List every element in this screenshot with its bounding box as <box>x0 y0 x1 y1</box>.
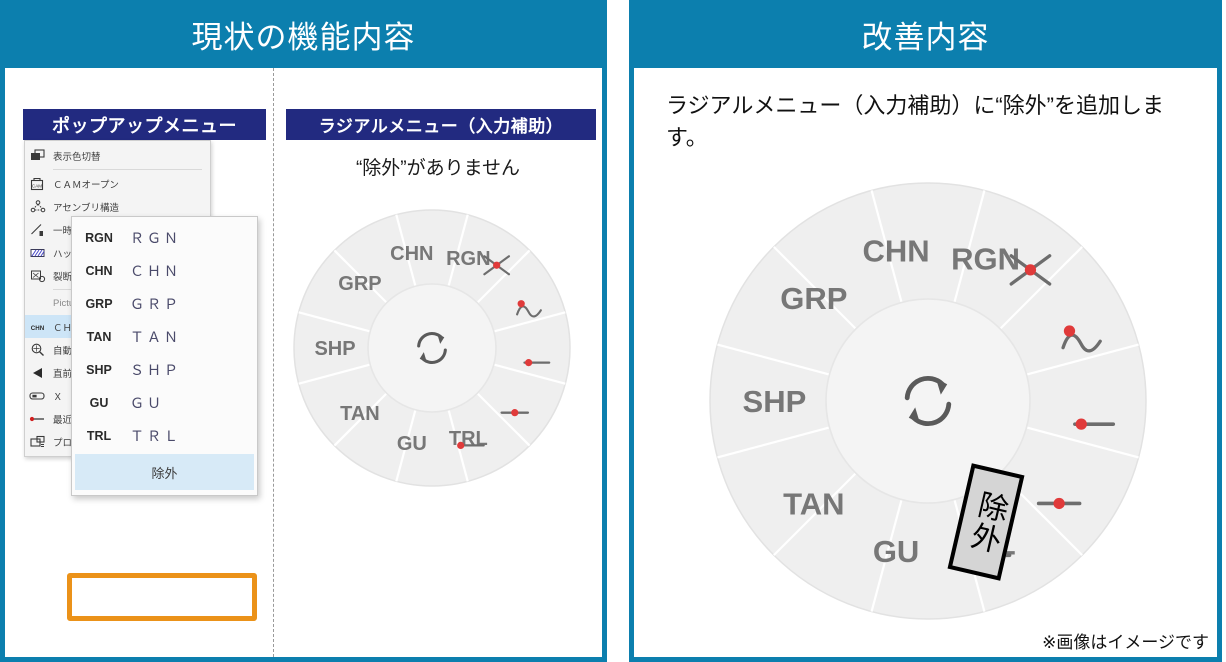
submenu-item-label: ＴＲＬ <box>130 426 181 446</box>
nearest-point-icon <box>29 411 46 426</box>
hatch-icon <box>29 245 46 260</box>
auto-zoom-icon <box>29 342 46 357</box>
wheel-label: RGN <box>446 248 490 270</box>
menu-item-display-color-switch[interactable]: 表示色切替 <box>25 144 210 167</box>
submenu-item-tan[interactable]: TAN ＴＡＮ <box>72 320 257 353</box>
popup-menu-subheader-label: ポップアップメニュー <box>52 112 237 138</box>
submenu-item-code: TAN <box>82 330 116 344</box>
properties-icon <box>29 434 46 449</box>
submenu-item-gu[interactable]: GU ＧＵ <box>72 386 257 419</box>
wheel-label: CHN <box>862 234 929 269</box>
menu-item-assembly-structure[interactable]: アセンブリ構造 <box>25 195 210 218</box>
submenu-item-rgn[interactable]: RGN ＲＧＮ <box>72 221 257 254</box>
svg-text:CAM: CAM <box>32 183 42 188</box>
submenu-item-label: ＳＨＰ <box>130 360 181 380</box>
menu-item-cam-open[interactable]: CAM ＣＡＭオープン <box>25 172 210 195</box>
menu-item-label: 自動 <box>53 343 72 357</box>
submenu-item-code: GRP <box>82 297 116 311</box>
right-panel-title: 改善内容 <box>862 12 990 57</box>
wheel-label: GU <box>397 433 427 455</box>
menu-item-label: 裂断 <box>53 269 72 283</box>
radial-wheel-svg-improved: RGNCHNGRPSHPTANGUTRL <box>698 173 1178 643</box>
popup-submenu[interactable]: RGN ＲＧＮ CHN ＣＨＮ GRP ＧＲＰ TAN <box>71 216 258 496</box>
submenu-item-shp[interactable]: SHP ＳＨＰ <box>72 353 257 386</box>
exclude-highlight-box <box>67 573 257 621</box>
submenu-item-label: ＣＨＮ <box>130 261 181 281</box>
menu-item-label: 最近 <box>53 412 72 426</box>
menu-separator <box>53 169 202 170</box>
radial-menu-subheader: ラジアルメニュー（入力補助） <box>286 109 596 140</box>
radial-wheel-svg-current: RGNCHNGRPSHPTANGUTRL <box>280 198 590 508</box>
chn-icon: CHN <box>29 319 46 334</box>
submenu-item-label: ＧＲＰ <box>130 294 181 314</box>
submenu-item-trl[interactable]: TRL ＴＲＬ <box>72 419 257 452</box>
submenu-item-code: TRL <box>82 429 116 443</box>
wheel-label: CHN <box>390 243 433 265</box>
xview-icon <box>29 388 46 403</box>
submenu-item-exclude-label: 除外 <box>151 463 177 482</box>
wheel-label: TRL <box>449 428 488 450</box>
picture-icon <box>29 296 46 311</box>
svg-text:CHN: CHN <box>31 325 45 332</box>
slide-root: 現状の機能内容 ポップアップメニュー 表示色切替 <box>0 0 1226 662</box>
submenu-item-label: ＲＧＮ <box>130 228 181 248</box>
assembly-structure-icon <box>29 199 46 214</box>
right-panel-body: ラジアルメニュー（入力補助）に“除外”を追加します。 RGNCHNGRPSHPT… <box>629 68 1222 662</box>
popup-menu-subheader: ポップアップメニュー <box>23 109 266 140</box>
wheel-label: GRP <box>780 281 847 316</box>
submenu-item-exclude[interactable]: 除外 <box>75 454 254 490</box>
left-panel-body: ポップアップメニュー 表示色切替 CAM <box>0 68 607 662</box>
submenu-item-grp[interactable]: GRP ＧＲＰ <box>72 287 257 320</box>
submenu-item-chn[interactable]: CHN ＣＨＮ <box>72 254 257 287</box>
previous-icon <box>29 365 46 380</box>
submenu-item-code: RGN <box>82 231 116 245</box>
menu-item-label: アセンブリ構造 <box>53 200 119 214</box>
image-footnote: ※画像はイメージです <box>1042 628 1209 653</box>
exclude-tag-label: 除外 <box>964 487 1008 556</box>
split-icon <box>29 268 46 283</box>
radial-menu-column: ラジアルメニュー（入力補助） “除外”がありません RGNCHNGRPSHPTA… <box>273 68 602 657</box>
radial-wheel-improved[interactable]: RGNCHNGRPSHPTANGUTRL <box>698 173 1178 643</box>
left-panel-header: 現状の機能内容 <box>0 0 607 68</box>
submenu-item-label: ＴＡＮ <box>130 327 181 347</box>
right-panel-header: 改善内容 <box>629 0 1222 68</box>
wheel-label: SHP <box>314 338 355 360</box>
left-panel-title: 現状の機能内容 <box>192 12 416 57</box>
radial-no-exclude-note: “除外”がありません <box>274 153 602 180</box>
left-panel: 現状の機能内容 ポップアップメニュー 表示色切替 <box>0 0 607 662</box>
menu-item-label: ＣＡＭオープン <box>53 177 119 191</box>
improvement-description: ラジアルメニュー（入力補助）に“除外”を追加します。 <box>666 90 1186 154</box>
submenu-item-code: SHP <box>82 363 116 377</box>
radial-wheel-current[interactable]: RGNCHNGRPSHPTANGUTRL <box>280 198 590 508</box>
submenu-item-label: ＧＵ <box>130 393 164 413</box>
right-panel: 改善内容 ラジアルメニュー（入力補助）に“除外”を追加します。 RGNCHNGR… <box>629 0 1222 662</box>
menu-item-label: 表示色切替 <box>53 149 101 163</box>
wheel-label: TAN <box>783 487 844 522</box>
display-color-switch-icon <box>29 148 46 163</box>
wheel-label: GRP <box>338 273 381 295</box>
wheel-label: TAN <box>340 403 380 425</box>
radial-menu-subheader-label: ラジアルメニュー（入力補助） <box>319 112 564 137</box>
submenu-item-code: GU <box>82 396 116 410</box>
menu-item-label: Ｘ <box>53 389 63 403</box>
cam-open-icon: CAM <box>29 176 46 191</box>
popup-menu-column: ポップアップメニュー 表示色切替 CAM <box>5 68 273 657</box>
wheel-label: SHP <box>743 384 807 419</box>
temp-shape-delete-icon <box>29 222 46 237</box>
submenu-item-code: CHN <box>82 264 116 278</box>
wheel-label: RGN <box>951 241 1020 276</box>
menu-item-label: 直前 <box>53 366 72 380</box>
wheel-label: GU <box>873 534 920 569</box>
